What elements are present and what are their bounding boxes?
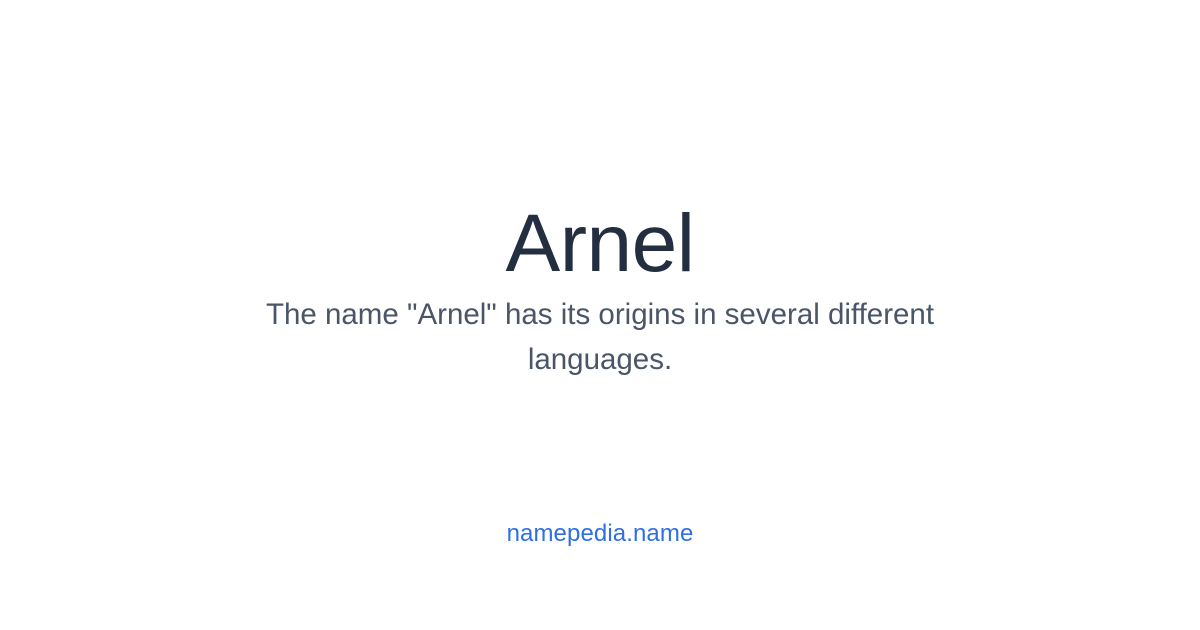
hero-block: Arnel The name "Arnel" has its origins i… bbox=[0, 196, 1200, 382]
name-description: The name "Arnel" has its origins in seve… bbox=[205, 292, 995, 382]
page-title: Arnel bbox=[506, 196, 695, 292]
site-url-link[interactable]: namepedia.name bbox=[507, 520, 694, 547]
footer: namepedia.name bbox=[0, 519, 1200, 549]
og-preview-card: Arnel The name "Arnel" has its origins i… bbox=[0, 0, 1200, 630]
